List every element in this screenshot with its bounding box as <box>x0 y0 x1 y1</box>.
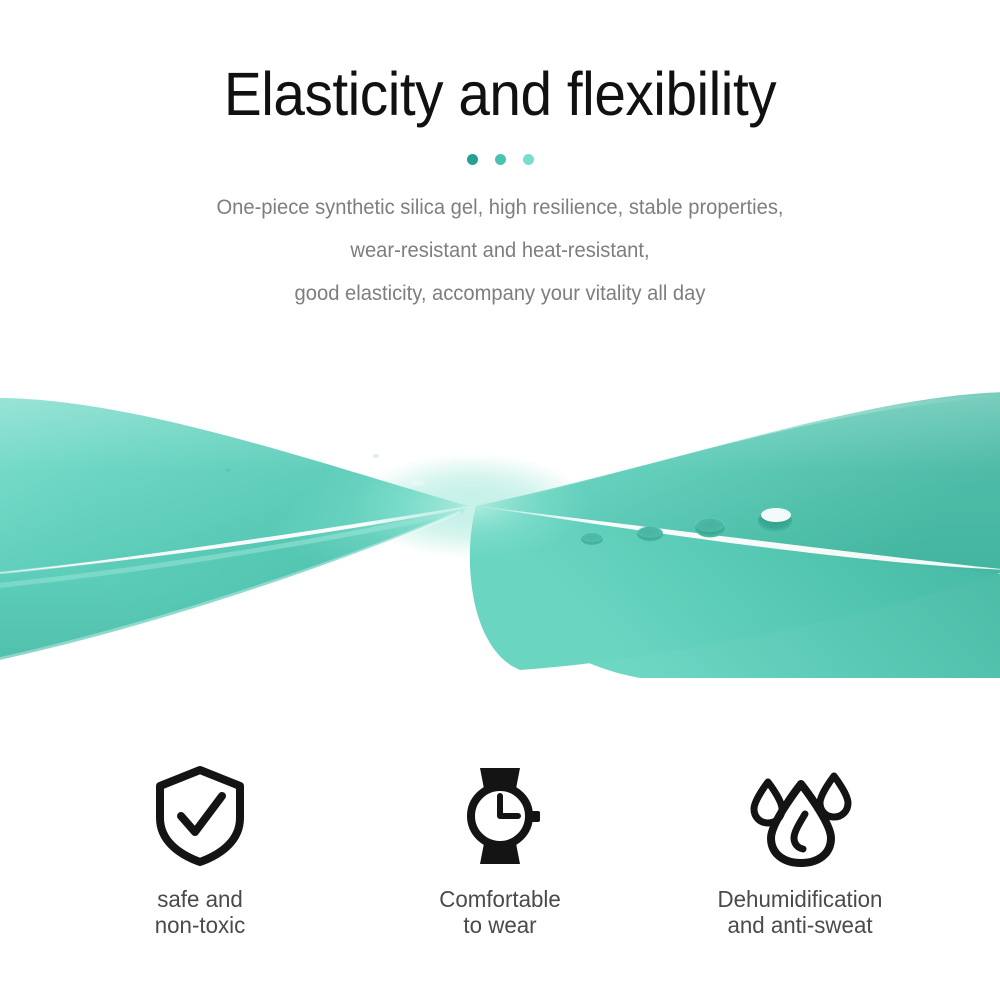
feature-caption-line-1: Comfortable <box>355 886 646 912</box>
feature-icon-wrapper <box>50 762 350 870</box>
product-feature-page: Elasticity and flexibility One-piece syn… <box>0 0 1000 1000</box>
page-title: Elasticity and flexibility <box>35 0 965 126</box>
dot-dark <box>467 154 478 165</box>
product-image <box>0 378 1000 678</box>
adjustment-hole-3-rim <box>695 518 725 532</box>
feature-caption-line-2: non-toxic <box>55 912 346 938</box>
adjustment-hole-1-rim <box>581 533 603 543</box>
feature-caption: safe and non-toxic <box>55 886 346 938</box>
feature-caption: Dehumidification and anti-sweat <box>655 886 946 938</box>
dot-light <box>523 154 534 165</box>
feature-caption: Comfortable to wear <box>355 886 646 938</box>
adjustment-hole-4-showthrough <box>761 508 791 522</box>
feature-caption-line-2: to wear <box>355 912 646 938</box>
feature-caption-line-2: and anti-sweat <box>655 912 946 938</box>
band-surface-speck-2 <box>225 468 231 472</box>
twisted-silicone-band-illustration <box>0 378 1000 678</box>
header-section: Elasticity and flexibility One-piece syn… <box>0 0 1000 315</box>
adjustment-hole-2-rim <box>637 526 663 538</box>
feature-dehumidification: Dehumidification and anti-sweat <box>650 762 950 938</box>
band-surface-speck-3 <box>373 454 379 458</box>
feature-comfortable-to-wear: Comfortable to wear <box>350 762 650 938</box>
feature-icon-wrapper <box>350 762 650 870</box>
subtitle-line-3: good elasticity, accompany your vitality… <box>20 272 980 315</box>
divider-dots <box>0 152 1000 166</box>
band-twist-node-highlight <box>352 454 592 558</box>
band-surface-speck-1 <box>411 480 425 486</box>
shield-check-icon <box>152 764 248 868</box>
feature-caption-line-1: Dehumidification <box>655 886 946 912</box>
feature-row: safe and non-toxic <box>0 762 1000 938</box>
subtitle-line-1: One-piece synthetic silica gel, high res… <box>20 186 980 229</box>
feature-icon-wrapper <box>650 762 950 870</box>
water-drops-icon <box>744 764 856 868</box>
wristwatch-icon <box>452 764 548 868</box>
feature-safe-non-toxic: safe and non-toxic <box>50 762 350 938</box>
feature-caption-line-1: safe and <box>55 886 346 912</box>
dot-medium <box>495 154 506 165</box>
subtitle-line-2: wear-resistant and heat-resistant, <box>20 229 980 272</box>
subtitle-block: One-piece synthetic silica gel, high res… <box>20 186 980 315</box>
